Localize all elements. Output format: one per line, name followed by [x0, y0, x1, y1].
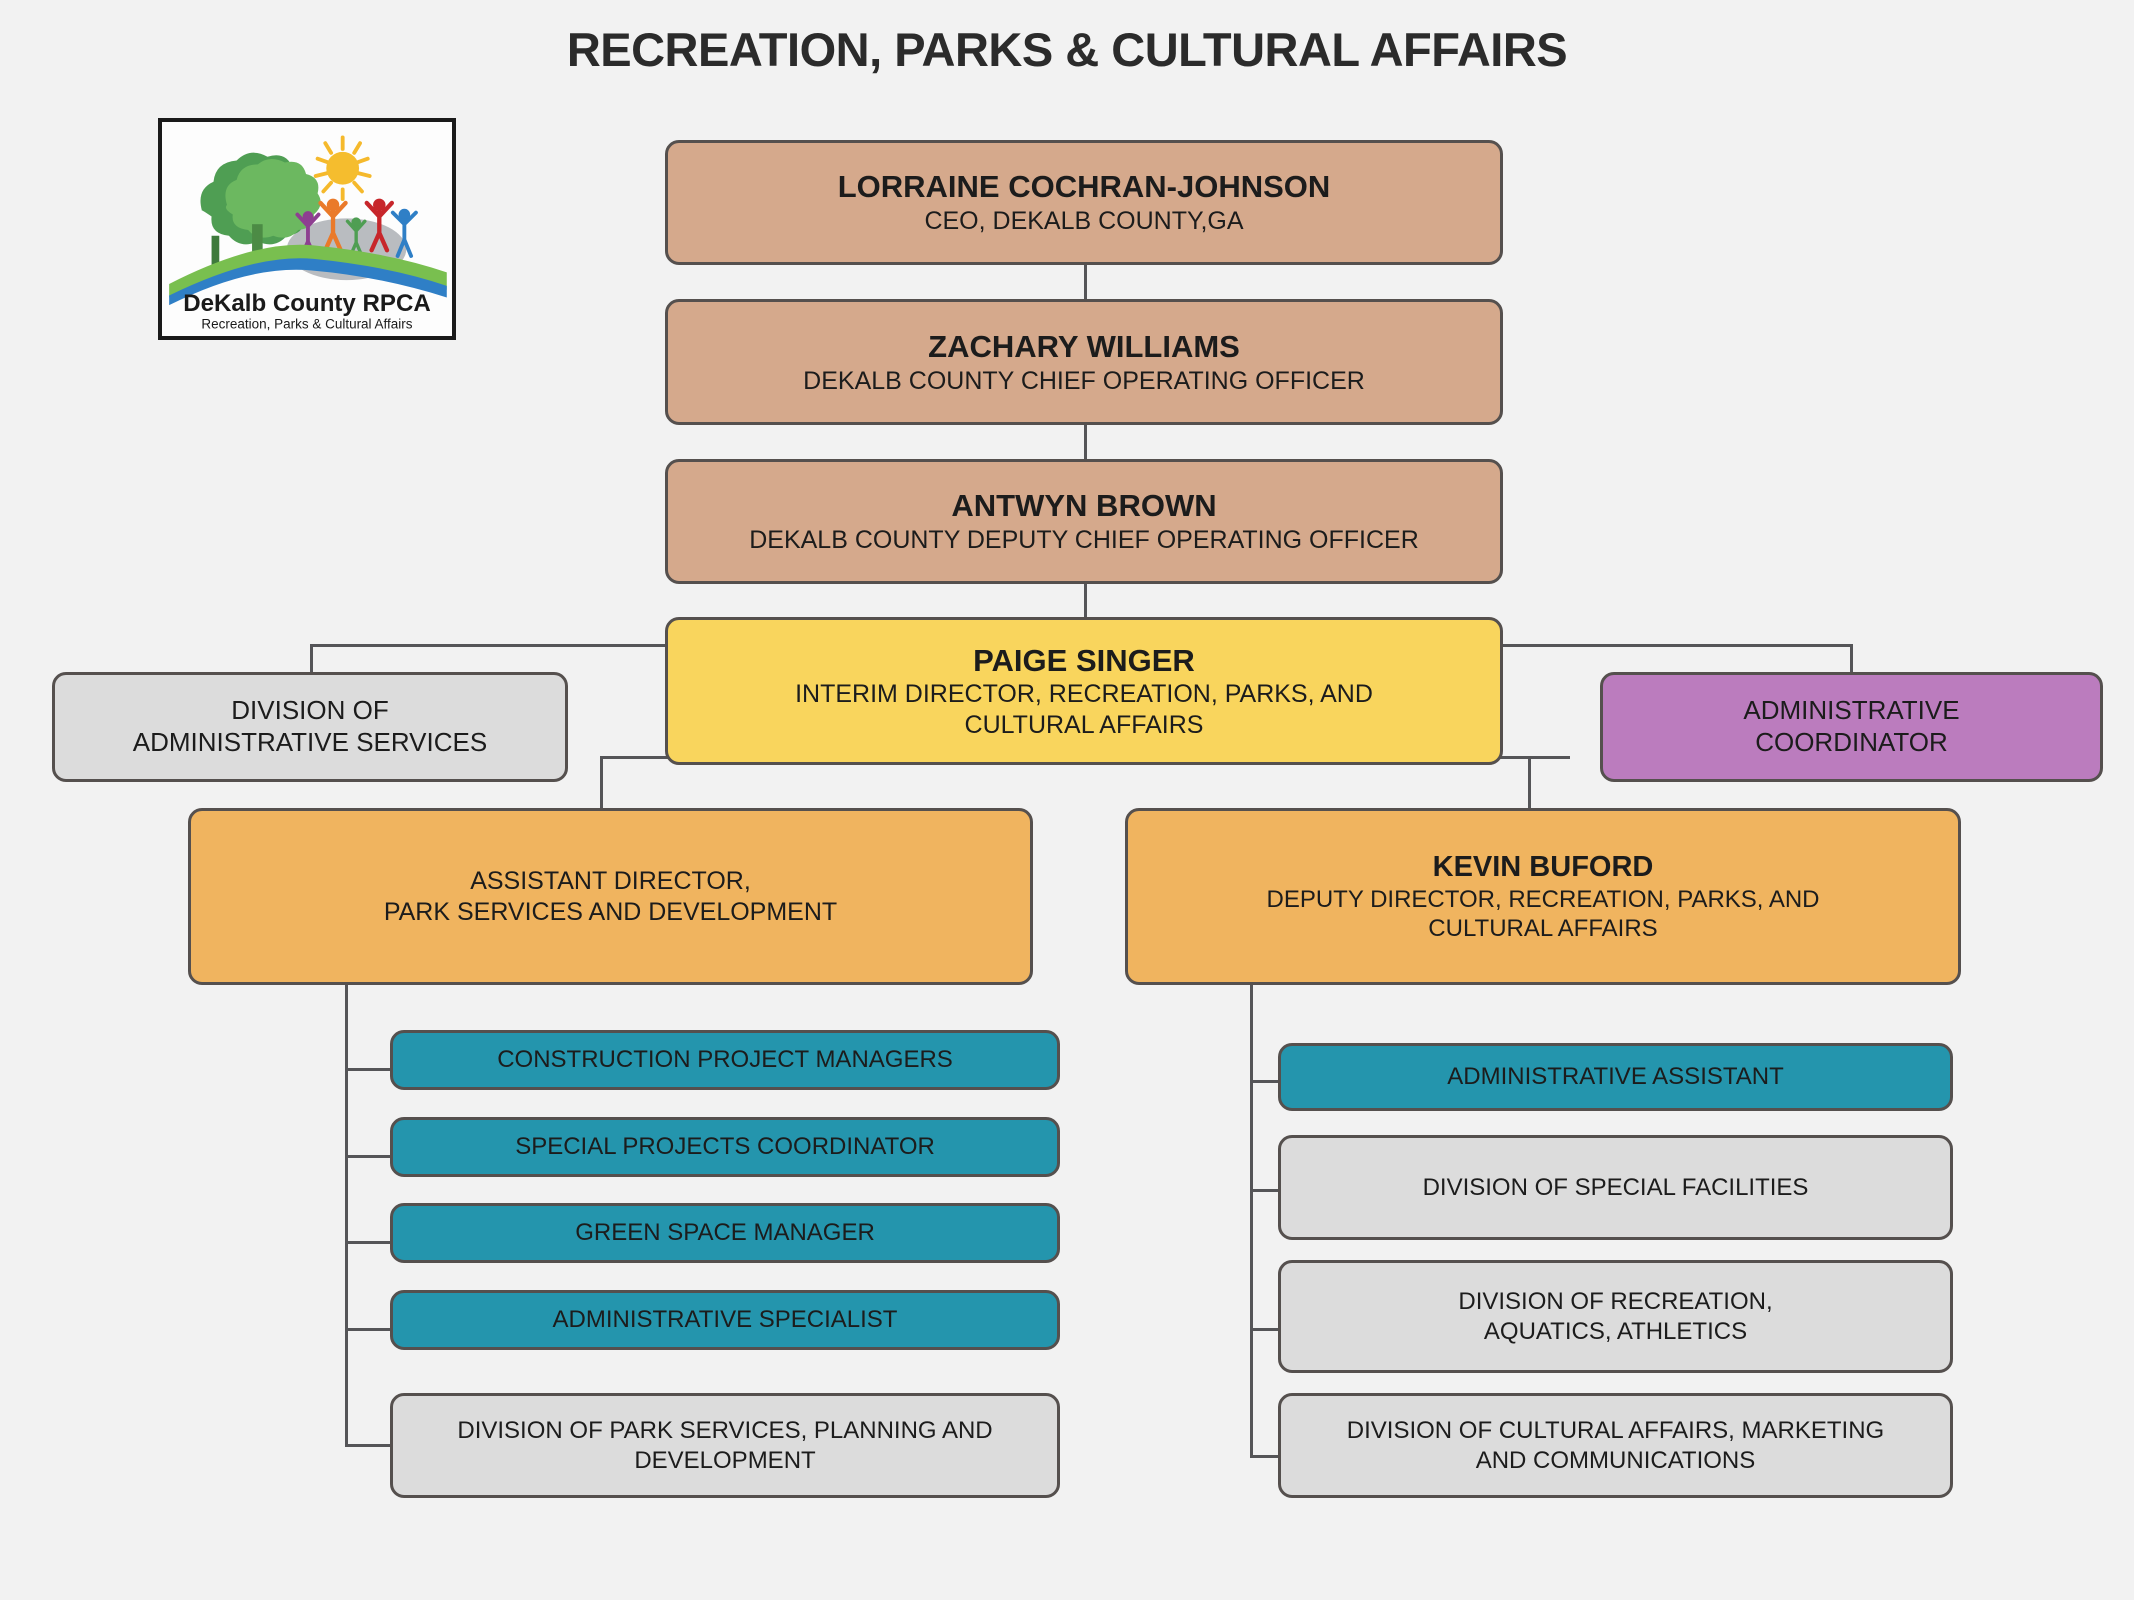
edge-director-adminsvcs-v: [310, 644, 313, 672]
sun-disc: [326, 152, 359, 185]
node-dcoo-title: DEKALB COUNTY DEPUTY CHIEF OPERATING OFF…: [749, 525, 1419, 556]
node-dcamc-line-2: AND COMMUNICATIONS: [1476, 1446, 1756, 1475]
node-dps-line-2: DEVELOPMENT: [634, 1446, 815, 1475]
node-deputy-director-line-2: CULTURAL AFFAIRS: [1428, 914, 1657, 943]
edge-director-admincoord-v: [1850, 644, 1853, 672]
edge-deputydir-dcamc: [1250, 1455, 1278, 1458]
node-ceo[interactable]: LORRAINE COCHRAN-JOHNSON CEO, DEKALB COU…: [665, 140, 1503, 265]
node-assistant-director-line-1: ASSISTANT DIRECTOR,: [470, 866, 751, 897]
node-administrative-specialist[interactable]: ADMINISTRATIVE SPECIALIST: [390, 1290, 1060, 1350]
node-administrative-assistant[interactable]: ADMINISTRATIVE ASSISTANT: [1278, 1043, 1953, 1111]
node-aa-label: ADMINISTRATIVE ASSISTANT: [1447, 1062, 1784, 1091]
node-coo-title: DEKALB COUNTY CHIEF OPERATING OFFICER: [803, 366, 1365, 397]
node-dcamc-line-1: DIVISION OF CULTURAL AFFAIRS, MARKETING: [1347, 1416, 1884, 1445]
logo-name: DeKalb County RPCA: [183, 290, 430, 317]
node-deputy-director[interactable]: KEVIN BUFORD DEPUTY DIRECTOR, RECREATION…: [1125, 808, 1961, 985]
node-gsm-label: GREEN SPACE MANAGER: [575, 1218, 875, 1247]
edge-deputydir-aa: [1250, 1080, 1278, 1083]
edge-director-admincoord-h: [1503, 644, 1853, 647]
node-draa-line-2: AQUATICS, ATHLETICS: [1484, 1317, 1747, 1346]
edge-deputydir-spine: [1250, 985, 1253, 1457]
node-construction-project-managers[interactable]: CONSTRUCTION PROJECT MANAGERS: [390, 1030, 1060, 1090]
edge-director-adminsvcs-h: [310, 644, 665, 647]
node-coo-name: ZACHARY WILLIAMS: [928, 328, 1240, 366]
node-special-projects-coordinator[interactable]: SPECIAL PROJECTS COORDINATOR: [390, 1117, 1060, 1177]
edge-deputydir-dsf: [1250, 1189, 1278, 1192]
node-division-cultural-affairs-marketing-communications[interactable]: DIVISION OF CULTURAL AFFAIRS, MARKETING …: [1278, 1393, 1953, 1498]
dekalb-county-rpca-logo: DeKalb County RPCA Recreation, Parks & C…: [158, 118, 456, 340]
page-title: RECREATION, PARKS & CULTURAL AFFAIRS: [0, 22, 2134, 77]
node-draa-line-1: DIVISION OF RECREATION,: [1458, 1287, 1772, 1316]
node-coo[interactable]: ZACHARY WILLIAMS DEKALB COUNTY CHIEF OPE…: [665, 299, 1503, 425]
node-admin-coordinator-line-1: ADMINISTRATIVE: [1743, 695, 1959, 727]
edge-asstdir-spc: [345, 1155, 390, 1158]
edge-coo-dcoo: [1084, 425, 1087, 459]
node-green-space-manager[interactable]: GREEN SPACE MANAGER: [390, 1203, 1060, 1263]
edge-asstdir-gsm: [345, 1241, 390, 1244]
node-director-title-2: CULTURAL AFFAIRS: [965, 710, 1204, 741]
node-dcoo-name: ANTWYN BROWN: [951, 487, 1216, 525]
edge-dcoo-director: [1084, 584, 1087, 617]
node-division-administrative-services[interactable]: DIVISION OF ADMINISTRATIVE SERVICES: [52, 672, 568, 782]
node-assistant-director[interactable]: ASSISTANT DIRECTOR, PARK SERVICES AND DE…: [188, 808, 1033, 985]
node-dsf-label: DIVISION OF SPECIAL FACILITIES: [1423, 1173, 1809, 1202]
edge-ceo-coo: [1084, 265, 1087, 299]
edge-deputydir-draa: [1250, 1328, 1278, 1331]
node-dps-line-1: DIVISION OF PARK SERVICES, PLANNING AND: [457, 1416, 992, 1445]
node-as-label: ADMINISTRATIVE SPECIALIST: [553, 1305, 898, 1334]
node-admin-coordinator-line-2: COORDINATOR: [1755, 727, 1948, 759]
node-administrative-coordinator[interactable]: ADMINISTRATIVE COORDINATOR: [1600, 672, 2103, 782]
edge-asstdir-dps: [345, 1444, 390, 1447]
edge-asstdir-cpm: [345, 1068, 390, 1071]
node-director[interactable]: PAIGE SINGER INTERIM DIRECTOR, RECREATIO…: [665, 617, 1503, 765]
node-division-recreation-aquatics-athletics[interactable]: DIVISION OF RECREATION, AQUATICS, ATHLET…: [1278, 1260, 1953, 1373]
edge-director-asstdir-v: [600, 756, 603, 808]
logo-tagline: Recreation, Parks & Cultural Affairs: [201, 316, 412, 331]
node-division-special-facilities[interactable]: DIVISION OF SPECIAL FACILITIES: [1278, 1135, 1953, 1240]
node-deputy-director-name: KEVIN BUFORD: [1433, 850, 1654, 885]
node-admin-services-line-2: ADMINISTRATIVE SERVICES: [133, 727, 487, 759]
node-ceo-title: CEO, DEKALB COUNTY,GA: [924, 206, 1243, 237]
node-director-name: PAIGE SINGER: [973, 642, 1195, 680]
logo-artwork: DeKalb County RPCA Recreation, Parks & C…: [162, 122, 452, 336]
node-division-park-services-planning-development[interactable]: DIVISION OF PARK SERVICES, PLANNING AND …: [390, 1393, 1060, 1498]
node-cpm-label: CONSTRUCTION PROJECT MANAGERS: [497, 1045, 953, 1074]
edge-director-deputydir-v: [1528, 756, 1531, 808]
node-assistant-director-line-2: PARK SERVICES AND DEVELOPMENT: [384, 897, 837, 928]
node-spc-label: SPECIAL PROJECTS COORDINATOR: [515, 1132, 935, 1161]
node-director-title-1: INTERIM DIRECTOR, RECREATION, PARKS, AND: [795, 679, 1373, 710]
node-dcoo[interactable]: ANTWYN BROWN DEKALB COUNTY DEPUTY CHIEF …: [665, 459, 1503, 584]
edge-asstdir-as: [345, 1328, 390, 1331]
node-deputy-director-line-1: DEPUTY DIRECTOR, RECREATION, PARKS, AND: [1267, 885, 1820, 914]
node-admin-services-line-1: DIVISION OF: [231, 695, 388, 727]
node-ceo-name: LORRAINE COCHRAN-JOHNSON: [838, 168, 1331, 206]
edge-asstdir-spine: [345, 985, 348, 1447]
